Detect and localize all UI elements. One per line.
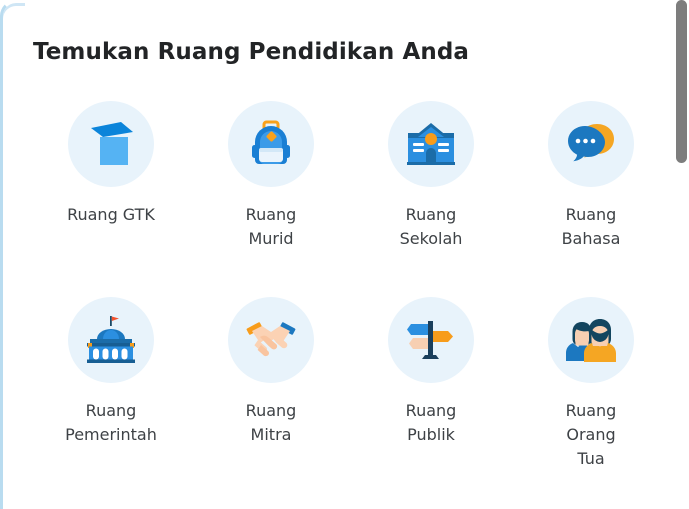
app-root: Temukan Ruang Pendidikan Anda Ruang GTK bbox=[0, 0, 689, 509]
tile-label-ruang-publik: Ruang Publik bbox=[366, 399, 496, 447]
scrollbar-thumb[interactable] bbox=[676, 0, 687, 163]
handshake-icon bbox=[228, 297, 314, 383]
signpost-icon bbox=[388, 297, 474, 383]
tile-label-ruang-gtk: Ruang GTK bbox=[46, 203, 176, 227]
page-title: Temukan Ruang Pendidikan Anda bbox=[33, 39, 469, 65]
tile-label-ruang-bahasa: Ruang Bahasa bbox=[526, 203, 656, 251]
backpack-icon bbox=[228, 101, 314, 187]
two-people-icon bbox=[548, 297, 634, 383]
tile-label-ruang-sekolah: Ruang Sekolah bbox=[366, 203, 496, 251]
tile-label-ruang-mitra: Ruang Mitra bbox=[206, 399, 336, 447]
box-icon bbox=[68, 101, 154, 187]
education-space-card: Temukan Ruang Pendidikan Anda Ruang GTK bbox=[0, 0, 672, 509]
tile-ruang-orang-tua[interactable]: Ruang Orang Tua bbox=[511, 297, 671, 471]
government-building-icon bbox=[68, 297, 154, 383]
tile-ruang-publik[interactable]: Ruang Publik bbox=[351, 297, 511, 471]
vertical-scrollbar[interactable] bbox=[674, 0, 689, 509]
education-space-grid: Ruang GTK Ruang bbox=[31, 101, 671, 471]
speech-bubbles-icon bbox=[548, 101, 634, 187]
tile-ruang-pemerintah[interactable]: Ruang Pemerintah bbox=[31, 297, 191, 471]
tile-ruang-mitra[interactable]: Ruang Mitra bbox=[191, 297, 351, 471]
tile-label-ruang-murid: Ruang Murid bbox=[206, 203, 336, 251]
school-building-icon bbox=[388, 101, 474, 187]
tile-ruang-bahasa[interactable]: Ruang Bahasa bbox=[511, 101, 671, 251]
tile-ruang-murid[interactable]: Ruang Murid bbox=[191, 101, 351, 251]
tile-label-ruang-orang-tua: Ruang Orang Tua bbox=[526, 399, 656, 471]
tile-label-ruang-pemerintah: Ruang Pemerintah bbox=[46, 399, 176, 447]
tile-ruang-sekolah[interactable]: Ruang Sekolah bbox=[351, 101, 511, 251]
tile-ruang-gtk[interactable]: Ruang GTK bbox=[31, 101, 191, 251]
